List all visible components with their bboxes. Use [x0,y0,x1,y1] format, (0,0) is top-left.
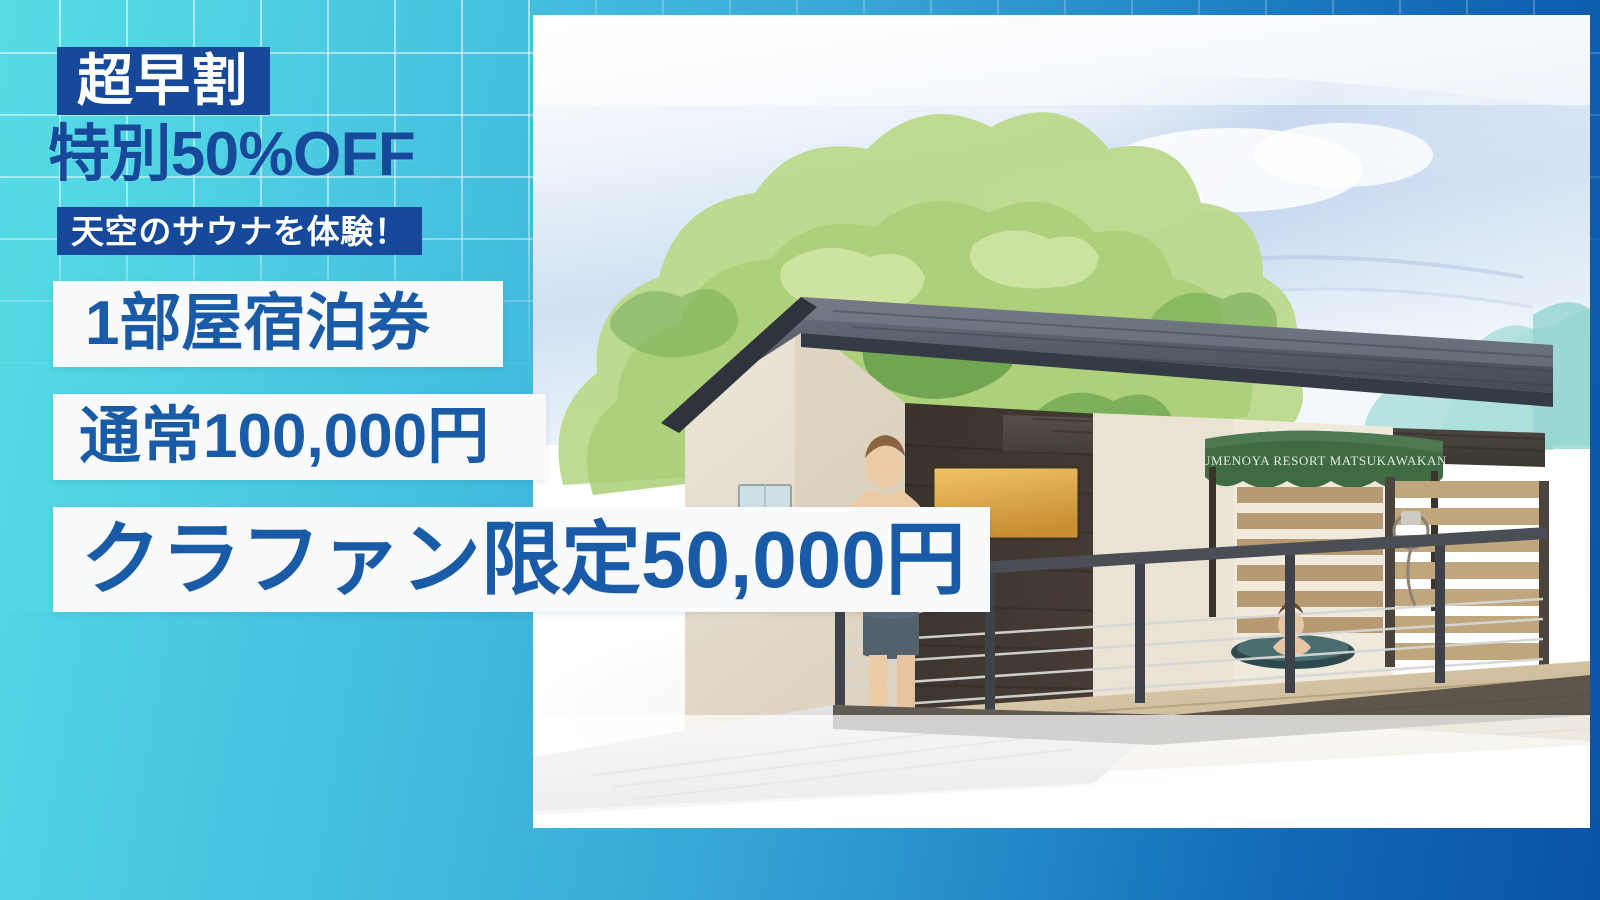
kicker-badge: 超早割 [57,47,270,115]
offer-row-room: 1部屋宿泊券 [53,281,503,367]
illustration-panel: UMENOYA RESORT MATSUKAWAKAN [533,15,1590,828]
offer-row-normal-price: 通常100,000円 [53,394,546,480]
promo-poster: UMENOYA RESORT MATSUKAWAKAN [0,0,1600,900]
offer-row-crowdfunding-price: クラファン限定50,000円 [53,507,990,612]
resort-illustration: UMENOYA RESORT MATSUKAWAKAN [533,15,1590,828]
sauna-subline-badge: 天空のサウナを体験！ [57,207,422,255]
awning-sign-text: UMENOYA RESORT MATSUKAWAKAN [1201,453,1447,468]
discount-headline: 特別50%OFF [48,124,415,186]
background-wedge [0,612,533,900]
